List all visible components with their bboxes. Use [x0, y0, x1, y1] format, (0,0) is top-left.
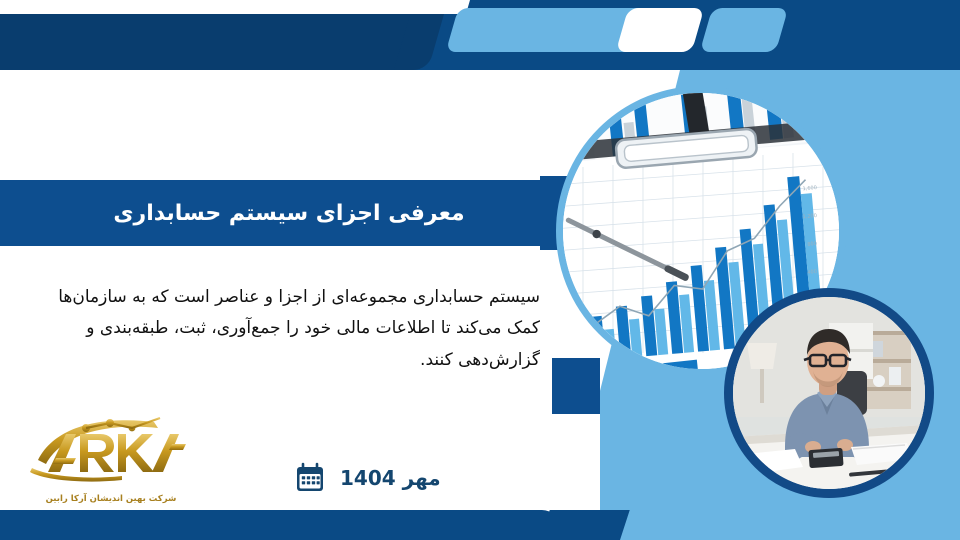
svg-text:1,600: 1,600 [802, 185, 817, 192]
presentation-slide: معرفی اجزای سیستم حسابداری سیستم حسابدار… [0, 0, 960, 540]
svg-text:800: 800 [807, 241, 817, 248]
svg-text:1,200: 1,200 [802, 213, 817, 220]
header-navy-tab [0, 14, 420, 70]
accountant-at-desk-photo [724, 288, 934, 498]
body-paragraph: سیستم حسابداری مجموعه‌ای از اجزا و عناصر… [24, 282, 540, 376]
page-title: معرفی اجزای سیستم حسابداری [0, 201, 548, 226]
bottom-accent-bar [0, 510, 560, 540]
date-label: مهر 1404 [340, 466, 441, 490]
svg-text:400: 400 [807, 269, 817, 276]
company-logo: شرکت بهین اندیشان آرکا رابین [26, 414, 196, 506]
header-shape-light-blue-small [700, 8, 789, 52]
slide-title-band: معرفی اجزای سیستم حسابداری [0, 180, 548, 246]
calendar-icon [294, 462, 326, 494]
company-name-caption: شرکت بهین اندیشان آرکا رابین [26, 494, 196, 504]
arka-wordmark-icon [26, 414, 196, 482]
date-row: مهر 1404 [294, 462, 441, 494]
header-shape-white [616, 8, 705, 52]
